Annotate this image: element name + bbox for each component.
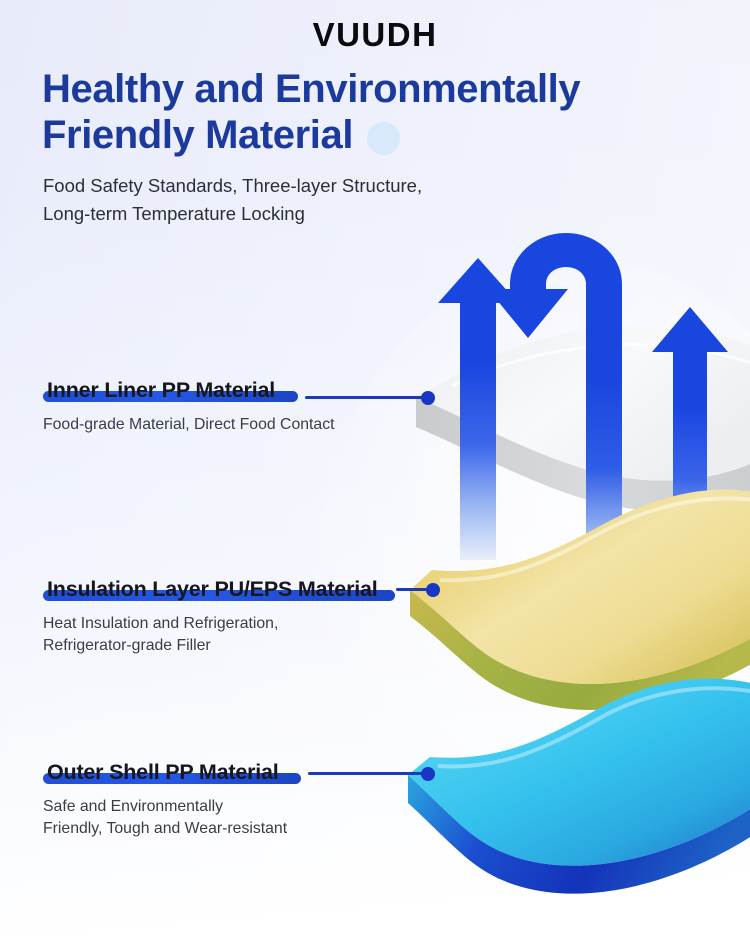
callout-outer-shell: Outer Shell PP Material Safe and Environ… xyxy=(43,760,287,840)
callout-title-inner-liner: Inner Liner PP Material xyxy=(47,378,275,402)
callout-title-wrap-outer-shell: Outer Shell PP Material xyxy=(43,760,283,785)
poster-canvas: VUUDH Healthy and Environmentally Friend… xyxy=(0,0,750,947)
callout-title-wrap-insulation-layer: Insulation Layer PU/EPS Material xyxy=(43,577,382,602)
connector-dot-insulation-layer xyxy=(426,583,440,597)
page-title: Healthy and Environmentally Friendly Mat… xyxy=(42,66,642,158)
connector-line-inner-liner xyxy=(305,396,428,399)
callout-title-outer-shell: Outer Shell PP Material xyxy=(47,760,279,784)
callout-insulation-layer: Insulation Layer PU/EPS Material Heat In… xyxy=(43,577,382,657)
callout-title-insulation-layer: Insulation Layer PU/EPS Material xyxy=(47,577,378,601)
callout-title-wrap-inner-liner: Inner Liner PP Material xyxy=(43,378,279,403)
connector-dot-inner-liner xyxy=(421,391,435,405)
callout-description-inner-liner: Food-grade Material, Direct Food Contact xyxy=(43,414,335,436)
connector-dot-outer-shell xyxy=(421,767,435,781)
page-subtitle: Food Safety Standards, Three-layer Struc… xyxy=(43,172,663,228)
callout-inner-liner: Inner Liner PP Material Food-grade Mater… xyxy=(43,378,335,436)
connector-line-outer-shell xyxy=(308,772,428,775)
callout-description-insulation-layer: Heat Insulation and Refrigeration, Refri… xyxy=(43,613,382,657)
callout-description-outer-shell: Safe and Environmentally Friendly, Tough… xyxy=(43,796,287,840)
